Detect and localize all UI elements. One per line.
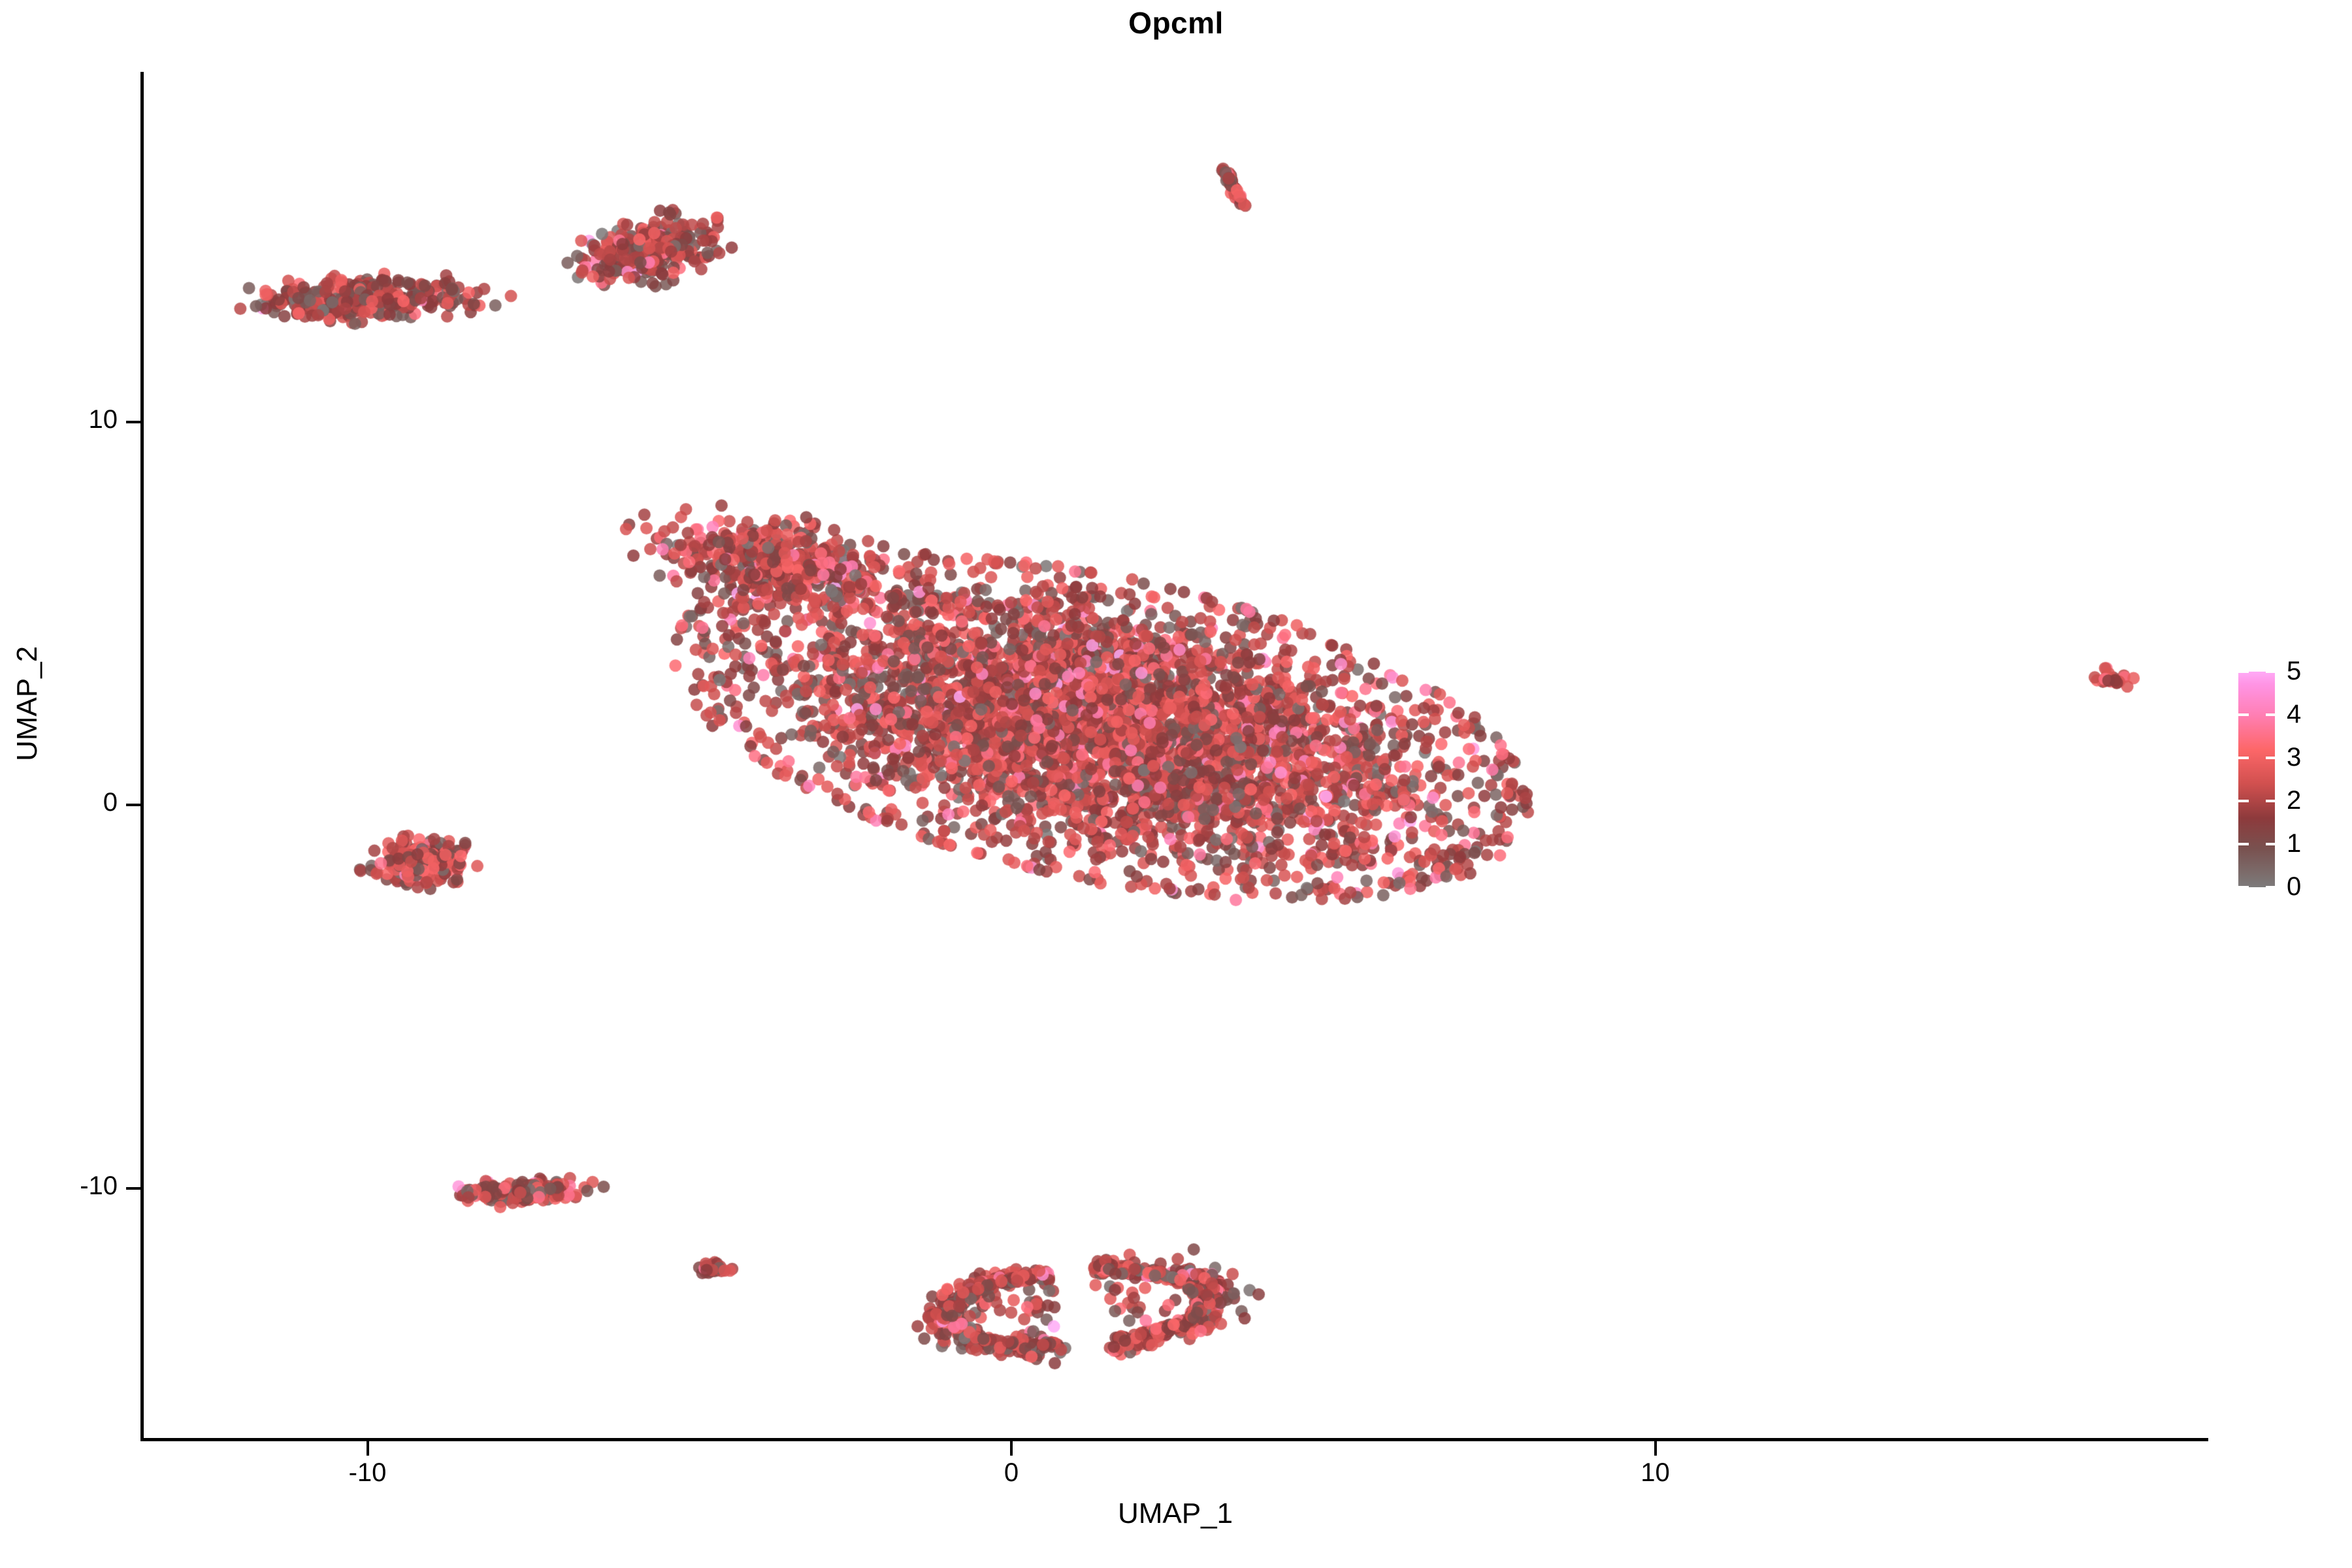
colorbar-gradient [2238,672,2275,887]
y-tick-mark [126,1187,140,1190]
colorbar-tick-mark [2238,670,2249,673]
colorbar-tick-mark [2266,886,2276,889]
scatter-points-layer [143,72,2208,1439]
y-axis-line [140,72,144,1441]
colorbar-tick-label: 5 [2287,658,2301,684]
colorbar-tick-mark [2266,713,2276,716]
colorbar-tick-label: 1 [2287,830,2301,857]
x-axis-title: UMAP_1 [143,1497,2208,1530]
colorbar-tick-label: 3 [2287,744,2301,770]
colorbar-legend: 012345 [2234,665,2339,894]
colorbar-tick-label: 4 [2287,701,2301,727]
colorbar-tick-mark [2238,757,2249,759]
y-tick-label: -10 [39,1171,118,1201]
y-axis-title: UMAP_2 [11,657,44,761]
x-tick-label: 10 [1590,1458,1721,1488]
x-tick-label: 0 [946,1458,1077,1488]
colorbar-tick-mark [2238,886,2249,889]
plot-panel [143,72,2208,1439]
colorbar-tick-label: 2 [2287,787,2301,813]
colorbar-tick-mark [2266,670,2276,673]
colorbar-tick-mark [2266,757,2276,759]
x-tick-label: -10 [302,1458,433,1488]
x-tick-mark [1654,1441,1657,1456]
y-tick-label: 0 [39,788,118,817]
colorbar-tick-mark [2266,843,2276,845]
y-tick-label: 10 [39,405,118,434]
colorbar-tick-mark [2238,843,2249,845]
y-tick-mark [126,804,140,806]
x-tick-mark [367,1441,369,1456]
umap-feature-plot: Opcml -10010 -10010 UMAP_1 UMAP_2 012345 [0,0,2352,1568]
y-tick-mark [126,421,140,423]
x-axis-line [140,1438,2208,1441]
colorbar-tick-mark [2238,800,2249,802]
x-tick-mark [1010,1441,1013,1456]
colorbar-tick-mark [2266,800,2276,802]
colorbar-tick-label: 0 [2287,874,2301,900]
page-title: Opcml [0,5,2352,41]
colorbar-tick-mark [2238,713,2249,716]
